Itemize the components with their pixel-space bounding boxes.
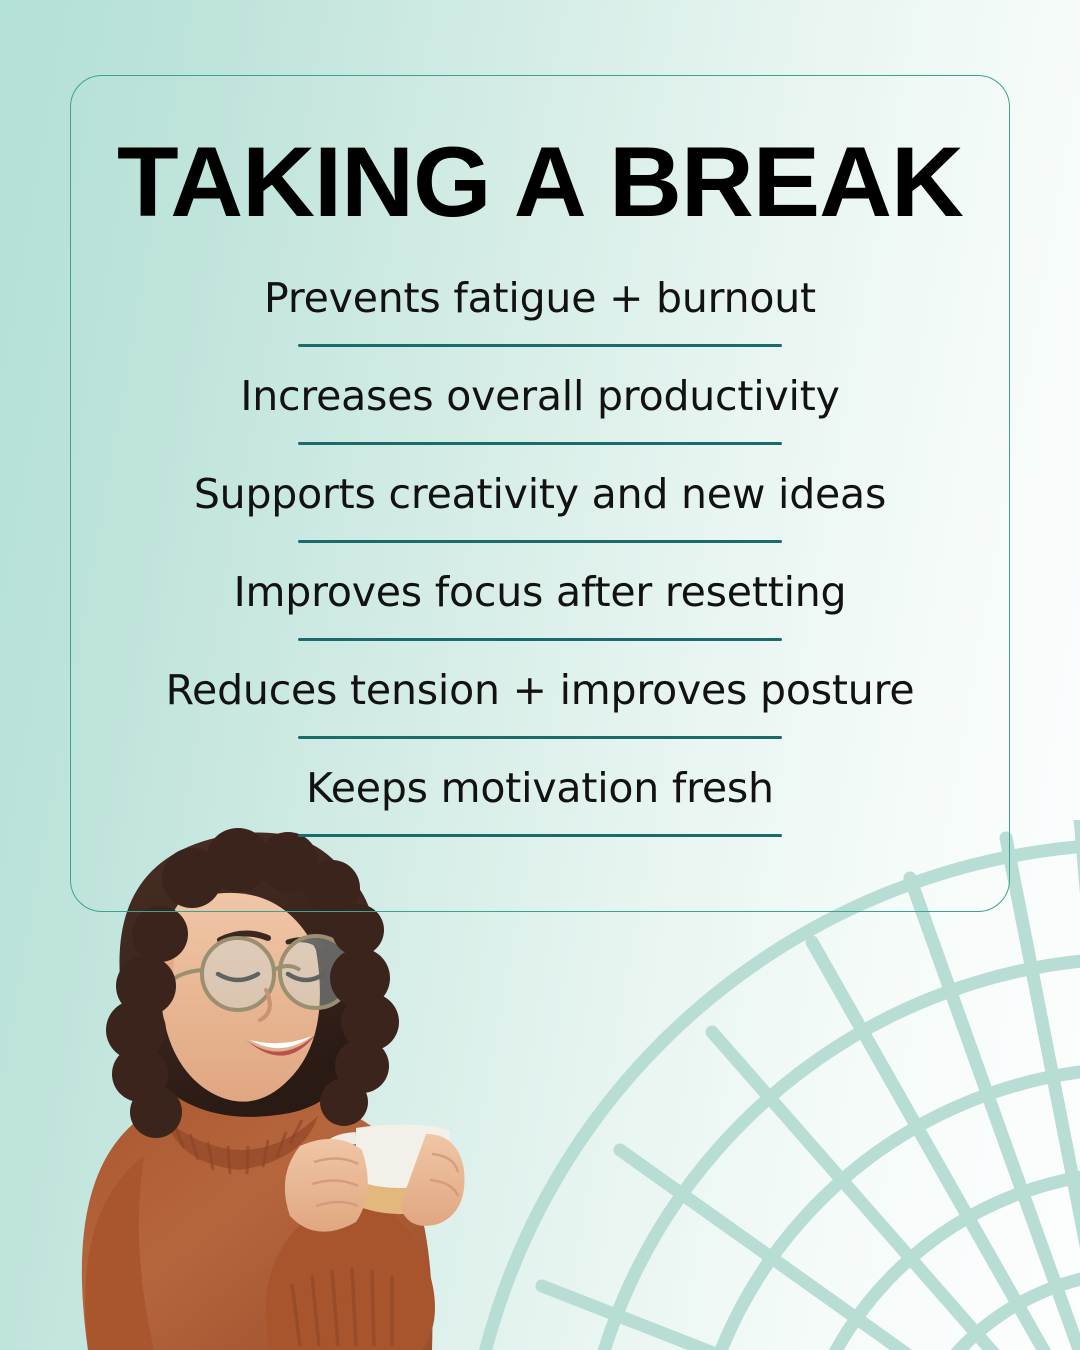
benefit-label: Increases overall productivity [71,370,1009,422]
poster-canvas: TAKING A BREAK Prevents fatigue + burnou… [0,0,1080,1350]
page-title: TAKING A BREAK [62,132,1019,231]
list-item: Supports creativity and new ideas [71,468,1009,566]
divider [298,442,782,445]
list-item: Prevents fatigue + burnout [71,272,1009,370]
content-card: TAKING A BREAK Prevents fatigue + burnou… [70,75,1010,912]
benefit-label: Improves focus after resetting [71,566,1009,618]
divider [298,834,782,837]
list-item: Increases overall productivity [71,370,1009,468]
divider [298,344,782,347]
benefit-label: Keeps motivation fresh [71,762,1009,814]
benefit-label: Prevents fatigue + burnout [71,272,1009,324]
divider [298,540,782,543]
divider [298,736,782,739]
list-item: Reduces tension + improves posture [71,664,1009,762]
list-item: Improves focus after resetting [71,566,1009,664]
benefit-label: Supports creativity and new ideas [71,468,1009,520]
divider [298,638,782,641]
benefits-list: Prevents fatigue + burnout Increases ove… [71,272,1009,860]
benefit-label: Reduces tension + improves posture [71,664,1009,716]
list-item: Keeps motivation fresh [71,762,1009,860]
